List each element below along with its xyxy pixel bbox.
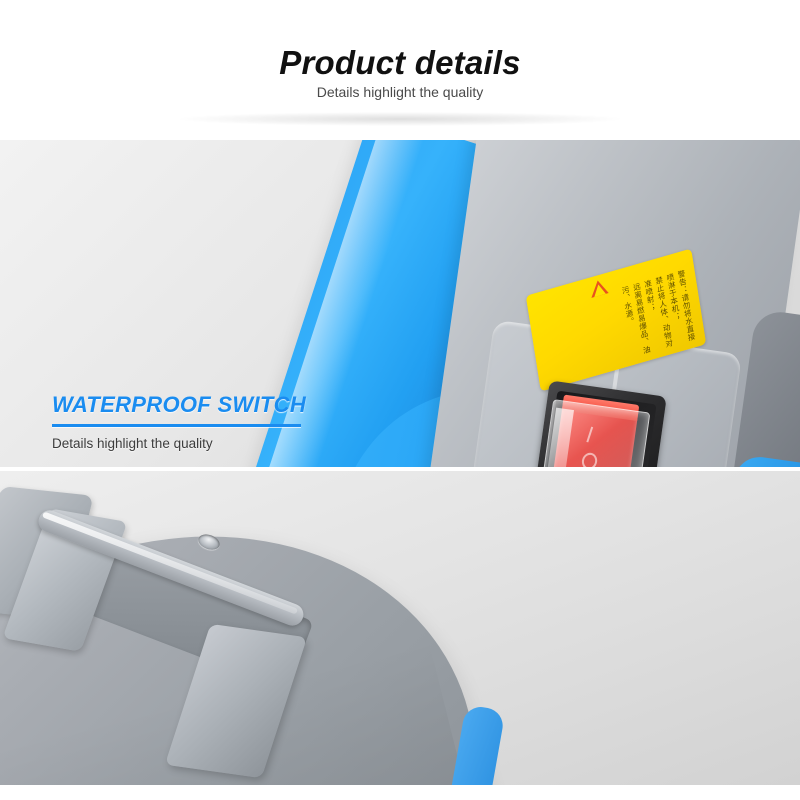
page-title: Product details (0, 44, 800, 82)
waterproof-rocker-switch[interactable] (531, 380, 667, 467)
detail-panel-waterproof-switch: 警告：请勿将水直接喷淋于本机； 禁止将人体、动物对准喷射； 远离易燃易爆品、油污… (0, 140, 800, 467)
page-header: Product details Details highlight the qu… (0, 0, 800, 138)
page-footer-space (0, 785, 800, 800)
page-subtitle: Details highlight the quality (0, 84, 800, 100)
title-shadow (180, 112, 620, 126)
detail-panel-non-slip-handle: NON-SLIP HANDLE Details highlight the qu… (0, 471, 800, 785)
section-heading: WATERPROOF SWITCH (52, 392, 306, 418)
section-subheading: Details highlight the quality (52, 436, 306, 451)
product-photo-handle (0, 471, 800, 785)
text-block-waterproof-switch: WATERPROOF SWITCH Details highlight the … (52, 392, 306, 467)
heading-underline (52, 424, 301, 427)
